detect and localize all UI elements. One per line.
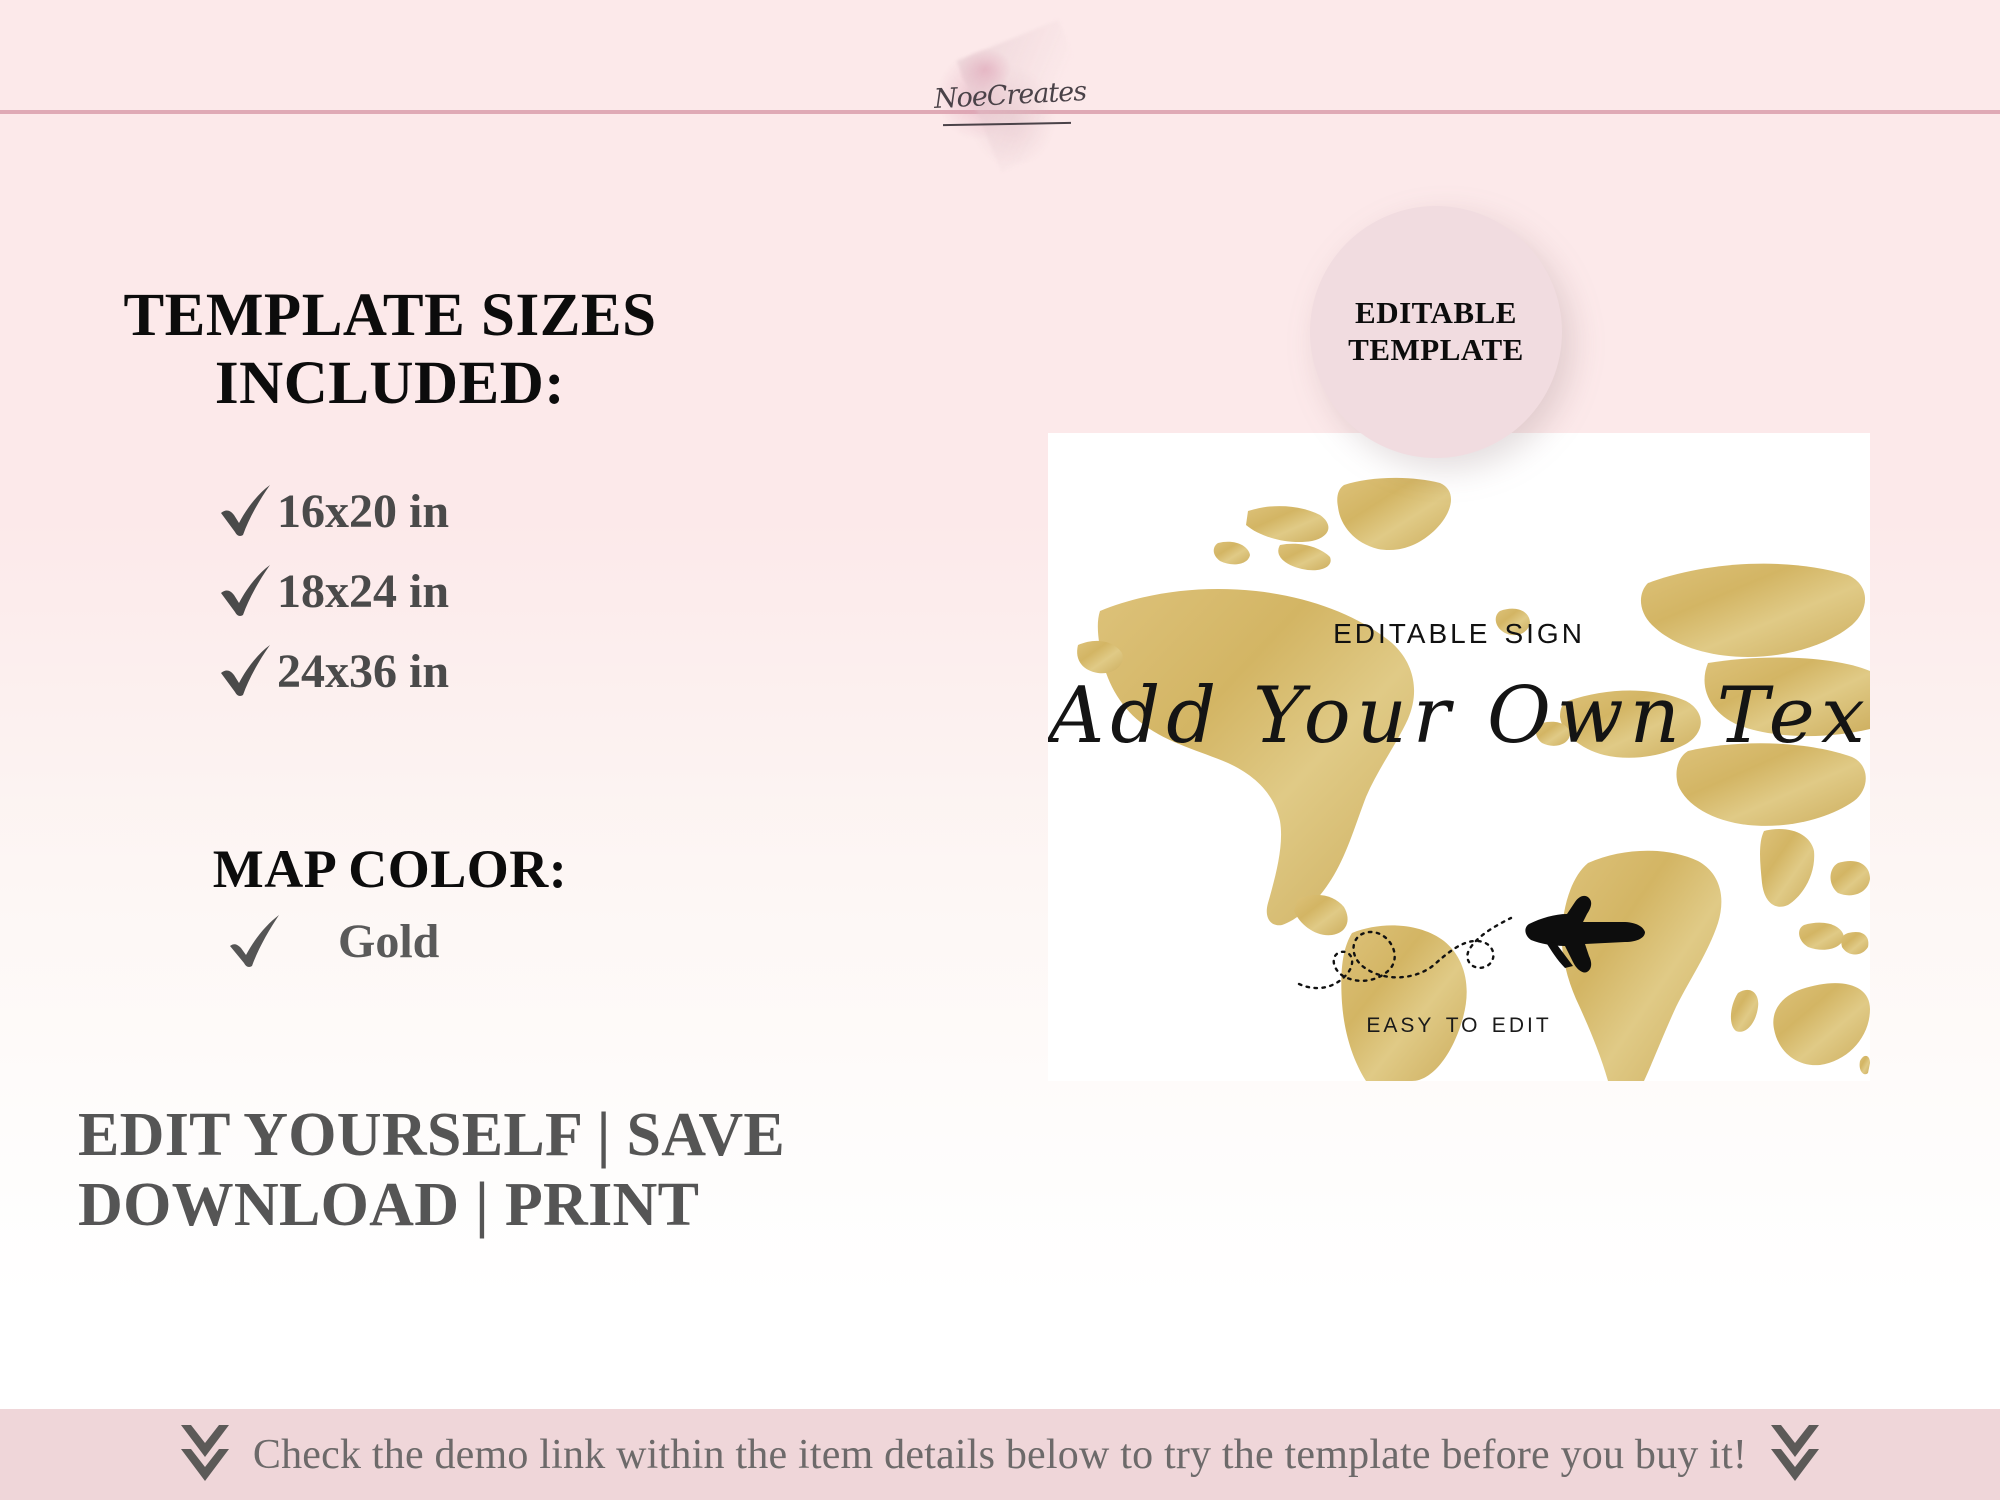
- airplane-trail-art: [1293, 888, 1673, 1018]
- list-item: 16x20 in: [215, 480, 449, 542]
- list-item: 24x36 in: [215, 640, 449, 702]
- check-icon: [224, 910, 286, 972]
- sign-script-text: Add Your Own Text: [1048, 671, 1870, 761]
- map-color-value: Gold: [338, 914, 439, 969]
- map-color-item: Gold: [224, 910, 439, 972]
- check-icon: [215, 560, 277, 622]
- map-color-heading: MAP COLOR:: [60, 838, 720, 900]
- list-item-label: 18x24 in: [277, 564, 449, 619]
- brand-logo: NoeCreates: [915, 28, 1105, 168]
- double-chevron-down-icon: [177, 1419, 233, 1490]
- cta-line-1: EDIT YOURSELF | SAVE: [78, 1100, 898, 1170]
- editable-template-badge: EDITABLE TEMPLATE: [1310, 206, 1562, 458]
- cta-text: EDIT YOURSELF | SAVE DOWNLOAD | PRINT: [78, 1100, 898, 1240]
- sign-title: EDITABLE SIGN: [1048, 608, 1870, 653]
- template-sizes-heading: TEMPLATE SIZES INCLUDED:: [60, 282, 720, 419]
- badge-line-1: EDITABLE: [1348, 295, 1524, 332]
- double-chevron-down-icon: [1767, 1419, 1823, 1490]
- sign-preview-card: EDITABLE SIGN Add Your Own Text EASY TO …: [1048, 433, 1870, 1081]
- check-icon: [215, 480, 277, 542]
- list-item-label: 16x20 in: [277, 484, 449, 539]
- list-item-label: 24x36 in: [277, 644, 449, 699]
- badge-line-2: TEMPLATE: [1348, 332, 1524, 369]
- badge-text: EDITABLE TEMPLATE: [1348, 295, 1524, 368]
- footer-banner: Check the demo link within the item deta…: [0, 1409, 2000, 1500]
- template-sizes-heading-line1: TEMPLATE SIZES: [60, 282, 720, 350]
- template-sizes-heading-line2: INCLUDED:: [60, 350, 720, 418]
- airplane-icon: [1525, 896, 1645, 973]
- sign-footer-text: EASY TO EDIT: [1048, 1006, 1870, 1040]
- cta-line-2: DOWNLOAD | PRINT: [78, 1170, 898, 1240]
- list-item: 18x24 in: [215, 560, 449, 622]
- slide-canvas: NoeCreates TEMPLATE SIZES INCLUDED: 16x2…: [0, 0, 2000, 1500]
- footer-message: Check the demo link within the item deta…: [253, 1431, 1747, 1479]
- check-icon: [215, 640, 277, 702]
